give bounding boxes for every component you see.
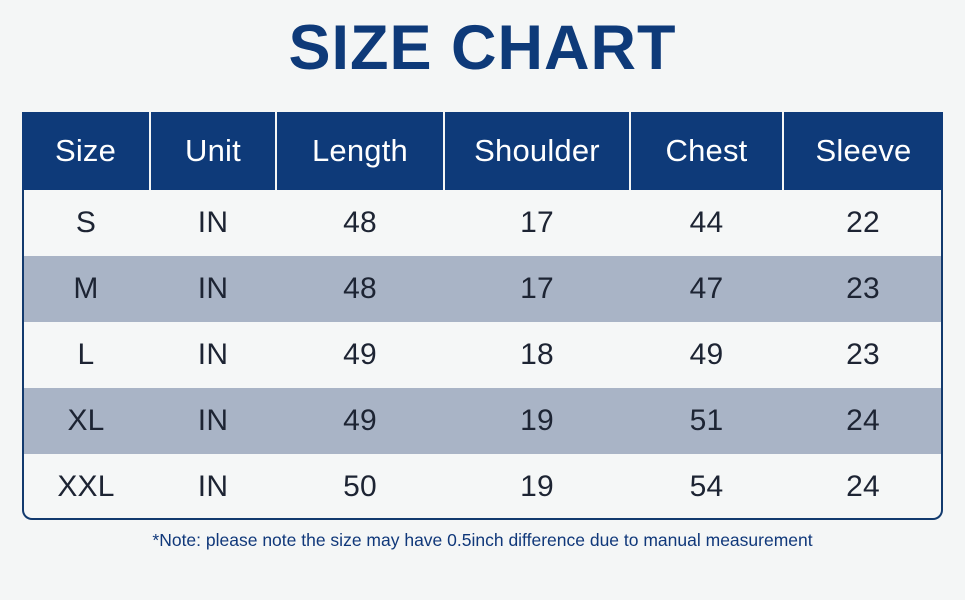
cell-chest: 47 xyxy=(630,256,783,322)
cell-shoulder: 17 xyxy=(444,256,630,322)
cell-size: XXL xyxy=(22,454,150,520)
cell-sleeve: 24 xyxy=(783,454,943,520)
size-table-container: Size Unit Length Shoulder Chest Sleeve S… xyxy=(22,112,943,520)
cell-shoulder: 19 xyxy=(444,454,630,520)
table-row: XL IN 49 19 51 24 xyxy=(22,388,943,454)
table-row: L IN 49 18 49 23 xyxy=(22,322,943,388)
cell-chest: 51 xyxy=(630,388,783,454)
header-row: Size Unit Length Shoulder Chest Sleeve xyxy=(22,112,943,190)
cell-sleeve: 22 xyxy=(783,190,943,256)
table-header: Size Unit Length Shoulder Chest Sleeve xyxy=(22,112,943,190)
cell-unit: IN xyxy=(150,454,276,520)
size-table-inner: Size Unit Length Shoulder Chest Sleeve S… xyxy=(22,112,943,520)
cell-length: 49 xyxy=(276,388,444,454)
cell-unit: IN xyxy=(150,256,276,322)
cell-chest: 54 xyxy=(630,454,783,520)
cell-size: XL xyxy=(22,388,150,454)
cell-shoulder: 17 xyxy=(444,190,630,256)
cell-unit: IN xyxy=(150,388,276,454)
table-row: S IN 48 17 44 22 xyxy=(22,190,943,256)
table-row: M IN 48 17 47 23 xyxy=(22,256,943,322)
column-header-sleeve: Sleeve xyxy=(783,112,943,190)
table-row: XXL IN 50 19 54 24 xyxy=(22,454,943,520)
cell-sleeve: 24 xyxy=(783,388,943,454)
cell-shoulder: 18 xyxy=(444,322,630,388)
cell-shoulder: 19 xyxy=(444,388,630,454)
cell-length: 49 xyxy=(276,322,444,388)
table-body: S IN 48 17 44 22 M IN 48 17 47 23 xyxy=(22,190,943,520)
page-title: SIZE CHART xyxy=(0,14,965,82)
cell-unit: IN xyxy=(150,190,276,256)
column-header-length: Length xyxy=(276,112,444,190)
column-header-shoulder: Shoulder xyxy=(444,112,630,190)
size-chart-page: SIZE CHART Size Unit Length Shou xyxy=(0,0,965,600)
cell-chest: 49 xyxy=(630,322,783,388)
cell-unit: IN xyxy=(150,322,276,388)
cell-size: S xyxy=(22,190,150,256)
cell-length: 48 xyxy=(276,256,444,322)
cell-length: 48 xyxy=(276,190,444,256)
size-table: Size Unit Length Shoulder Chest Sleeve S… xyxy=(22,112,943,520)
cell-length: 50 xyxy=(276,454,444,520)
column-header-chest: Chest xyxy=(630,112,783,190)
measurement-note: *Note: please note the size may have 0.5… xyxy=(0,530,965,551)
cell-size: L xyxy=(22,322,150,388)
column-header-size: Size xyxy=(22,112,150,190)
column-header-unit: Unit xyxy=(150,112,276,190)
cell-sleeve: 23 xyxy=(783,322,943,388)
cell-chest: 44 xyxy=(630,190,783,256)
cell-sleeve: 23 xyxy=(783,256,943,322)
cell-size: M xyxy=(22,256,150,322)
